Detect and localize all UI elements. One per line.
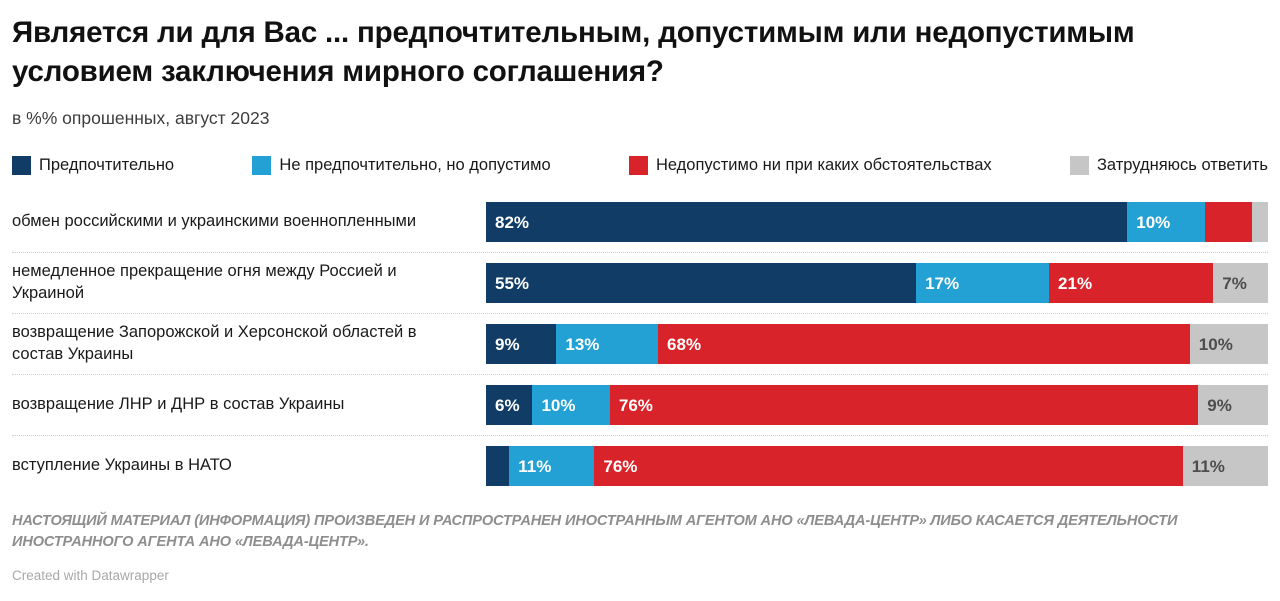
legend-item-label: Не предпочтительно, но допустимо: [279, 157, 550, 174]
bar-segment[interactable]: 21%: [1049, 263, 1213, 303]
bar-segment[interactable]: 9%: [486, 324, 556, 364]
bar-segment-value: 55%: [495, 275, 529, 292]
chart-page: Является ли для Вас ... предпочтительным…: [0, 0, 1280, 601]
bar-segment[interactable]: 76%: [610, 385, 1198, 425]
bar-segment[interactable]: 55%: [486, 263, 916, 303]
bar-segment-value: 10%: [541, 397, 575, 414]
bar-segment[interactable]: 6%: [486, 385, 532, 425]
bar-segment-value: 76%: [619, 397, 653, 414]
page-title: Является ли для Вас ... предпочтительным…: [12, 0, 1256, 91]
bar-segment-value: 10%: [1199, 336, 1233, 353]
legend-item[interactable]: Недопустимо ни при каких обстоятельствах: [629, 156, 992, 175]
legend-item-label: Затрудняюсь ответить: [1097, 157, 1268, 174]
legend-color-swatch: [252, 156, 271, 175]
chart-row-label: обмен российскими и украинскими военнопл…: [12, 211, 486, 233]
bar-segment-value: 11%: [518, 458, 551, 475]
chart-row-label: возвращение Запорожской и Херсонской обл…: [12, 322, 486, 366]
bar-segment[interactable]: 9%: [1198, 385, 1268, 425]
bar-segment-value: 13%: [565, 336, 599, 353]
bar-segment[interactable]: 10%: [1127, 202, 1205, 242]
stacked-bar: 11%76%11%: [486, 446, 1268, 486]
stacked-bar: 6%10%76%9%: [486, 385, 1268, 425]
bar-segment[interactable]: [1252, 202, 1268, 242]
legend-color-swatch: [629, 156, 648, 175]
bar-segment[interactable]: 10%: [532, 385, 609, 425]
bar-segment[interactable]: 82%: [486, 202, 1127, 242]
bar-segment[interactable]: 68%: [658, 324, 1190, 364]
bar-segment-value: 9%: [1207, 397, 1232, 414]
bar-segment-value: 68%: [667, 336, 701, 353]
bar-segment-value: 82%: [495, 214, 529, 231]
chart-legend: ПредпочтительноНе предпочтительно, но до…: [12, 154, 1268, 176]
stacked-bar: 9%13%68%10%: [486, 324, 1268, 364]
stacked-bar: 55%17%21%7%: [486, 263, 1268, 303]
stacked-bar: 82%10%: [486, 202, 1268, 242]
stacked-bar-chart: обмен российскими и украинскими военнопл…: [12, 192, 1268, 496]
legend-item-label: Недопустимо ни при каких обстоятельствах: [656, 157, 992, 174]
legend-item[interactable]: Не предпочтительно, но допустимо: [252, 156, 550, 175]
bar-segment[interactable]: 13%: [556, 324, 658, 364]
legend-color-swatch: [1070, 156, 1089, 175]
bar-segment[interactable]: [486, 446, 509, 486]
bar-segment-value: 9%: [495, 336, 520, 353]
bar-segment-value: 6%: [495, 397, 520, 414]
bar-segment-value: 76%: [603, 458, 637, 475]
bar-segment-value: 21%: [1058, 275, 1092, 292]
bar-segment[interactable]: 7%: [1213, 263, 1268, 303]
bar-segment[interactable]: 76%: [594, 446, 1182, 486]
chart-row: возвращение ЛНР и ДНР в состав Украины6%…: [12, 374, 1268, 435]
legend-color-swatch: [12, 156, 31, 175]
datawrapper-credit[interactable]: Created with Datawrapper: [12, 568, 169, 583]
bar-segment[interactable]: 11%: [509, 446, 594, 486]
bar-segment[interactable]: 11%: [1183, 446, 1268, 486]
foreign-agent-disclaimer: НАСТОЯЩИЙ МАТЕРИАЛ (ИНФОРМАЦИЯ) ПРОИЗВЕД…: [12, 511, 1268, 552]
legend-item-label: Предпочтительно: [39, 157, 174, 174]
chart-row-label: возвращение ЛНР и ДНР в состав Украины: [12, 394, 486, 416]
bar-segment[interactable]: 10%: [1190, 324, 1268, 364]
chart-row: вступление Украины в НАТО11%76%11%: [12, 435, 1268, 496]
bar-segment-value: 11%: [1192, 458, 1225, 475]
bar-segment[interactable]: 17%: [916, 263, 1049, 303]
chart-row-label: немедленное прекращение огня между Росси…: [12, 261, 486, 305]
legend-item[interactable]: Затрудняюсь ответить: [1070, 156, 1268, 175]
chart-subtitle: в %% опрошенных, август 2023: [12, 107, 1268, 130]
bar-segment-value: 17%: [925, 275, 959, 292]
chart-row-label: вступление Украины в НАТО: [12, 455, 486, 477]
bar-segment-value: 10%: [1136, 214, 1170, 231]
legend-item[interactable]: Предпочтительно: [12, 156, 174, 175]
chart-row: обмен российскими и украинскими военнопл…: [12, 192, 1268, 252]
chart-row: возвращение Запорожской и Херсонской обл…: [12, 313, 1268, 374]
chart-row: немедленное прекращение огня между Росси…: [12, 252, 1268, 313]
bar-segment[interactable]: [1205, 202, 1252, 242]
bar-segment-value: 7%: [1222, 275, 1247, 292]
